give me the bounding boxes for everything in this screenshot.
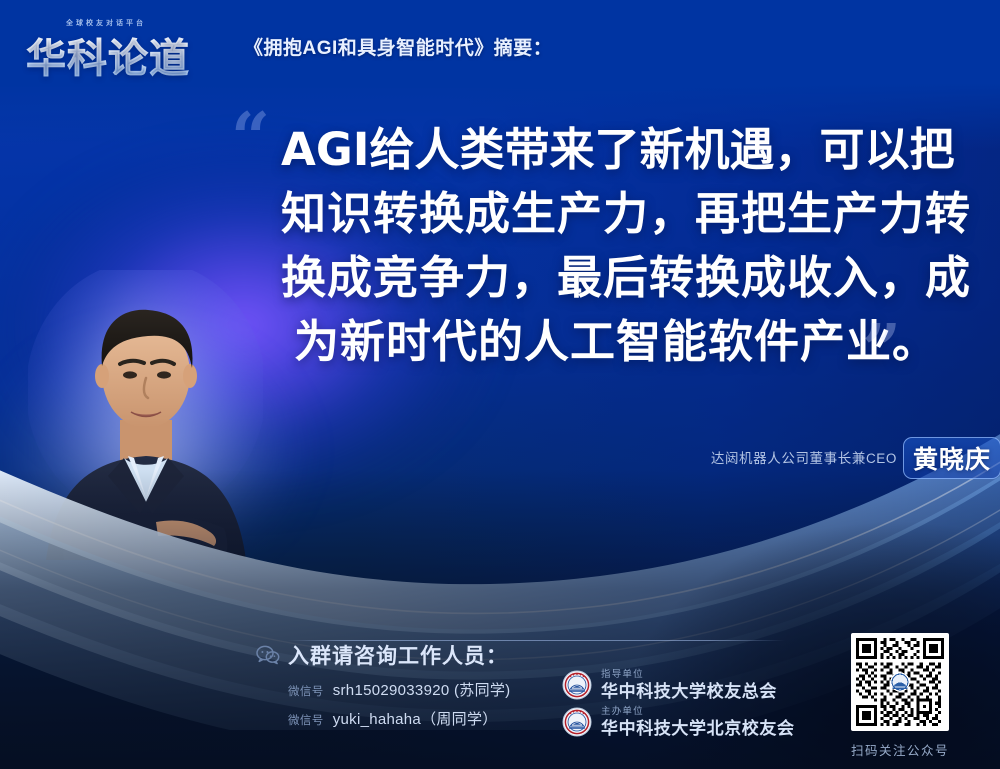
organization-row: 主办单位 华中科技大学北京校友会 xyxy=(562,707,795,737)
organization-name: 华中科技大学校友总会 xyxy=(601,683,777,700)
qr-code[interactable] xyxy=(851,633,949,731)
organization-text: 主办单位 华中科技大学北京校友会 xyxy=(601,707,795,737)
quote-close-mark: ” xyxy=(862,316,899,384)
speaker-role: 达闼机器人公司董事长兼CEO xyxy=(711,447,897,467)
poster-header: 全球校友对话平台 华科论道 《拥抱AGI和具身智能时代》摘要： xyxy=(0,0,1000,92)
qr-block: 扫码关注公众号 xyxy=(840,633,960,759)
contact-row: 微信号 srh15029033920 (苏同学) xyxy=(288,679,510,700)
speaker-name-badge: 黄晓庆 xyxy=(903,437,1000,479)
speaker-name: 黄晓庆 xyxy=(913,440,991,476)
contact-block: 入群请咨询工作人员： 微信号 srh15029033920 (苏同学) 微信号 … xyxy=(288,640,510,729)
hust-seal-icon xyxy=(562,707,592,737)
quote-open-mark: “ xyxy=(231,104,268,172)
contact-value[interactable]: srh15029033920 (苏同学) xyxy=(333,679,511,700)
organizations-block: 指导单位 华中科技大学校友总会 xyxy=(562,670,795,744)
organization-text: 指导单位 华中科技大学校友总会 xyxy=(601,670,777,700)
brand-logo: 全球校友对话平台 华科论道 xyxy=(26,15,222,77)
contact-label: 微信号 xyxy=(288,712,324,728)
page-title: 《拥抱AGI和具身智能时代》摘要： xyxy=(244,33,552,60)
quote-line: AGI给人类带来了新机遇，可以把 xyxy=(281,118,951,182)
organization-kind: 主办单位 xyxy=(601,707,795,717)
organization-kind: 指导单位 xyxy=(601,670,777,680)
wechat-icon xyxy=(256,645,280,665)
organization-row: 指导单位 华中科技大学校友总会 xyxy=(562,670,795,700)
contact-title: 入群请咨询工作人员： xyxy=(288,640,510,670)
attribution: 达闼机器人公司董事长兼CEO xyxy=(711,447,897,467)
hust-seal-icon xyxy=(562,670,592,700)
qr-caption: 扫码关注公众号 xyxy=(840,740,960,759)
quote-line: 为新时代的人工智能软件产业。 xyxy=(281,310,951,374)
contact-label: 微信号 xyxy=(288,683,324,699)
poster-canvas: 全球校友对话平台 华科论道 《拥抱AGI和具身智能时代》摘要： “ AGI给人类… xyxy=(0,0,1000,769)
quote-line: 知识转换成生产力，再把生产力转 xyxy=(281,182,951,246)
quote-line: 换成竞争力，最后转换成收入，成 xyxy=(281,246,951,310)
brand-name: 华科论道 xyxy=(26,26,190,84)
contact-row: 微信号 yuki_hahaha（周同学） xyxy=(288,708,510,729)
quote-block: AGI给人类带来了新机遇，可以把 知识转换成生产力，再把生产力转 换成竞争力，最… xyxy=(281,118,951,374)
organization-name: 华中科技大学北京校友会 xyxy=(601,720,795,737)
contact-value[interactable]: yuki_hahaha（周同学） xyxy=(333,708,498,729)
